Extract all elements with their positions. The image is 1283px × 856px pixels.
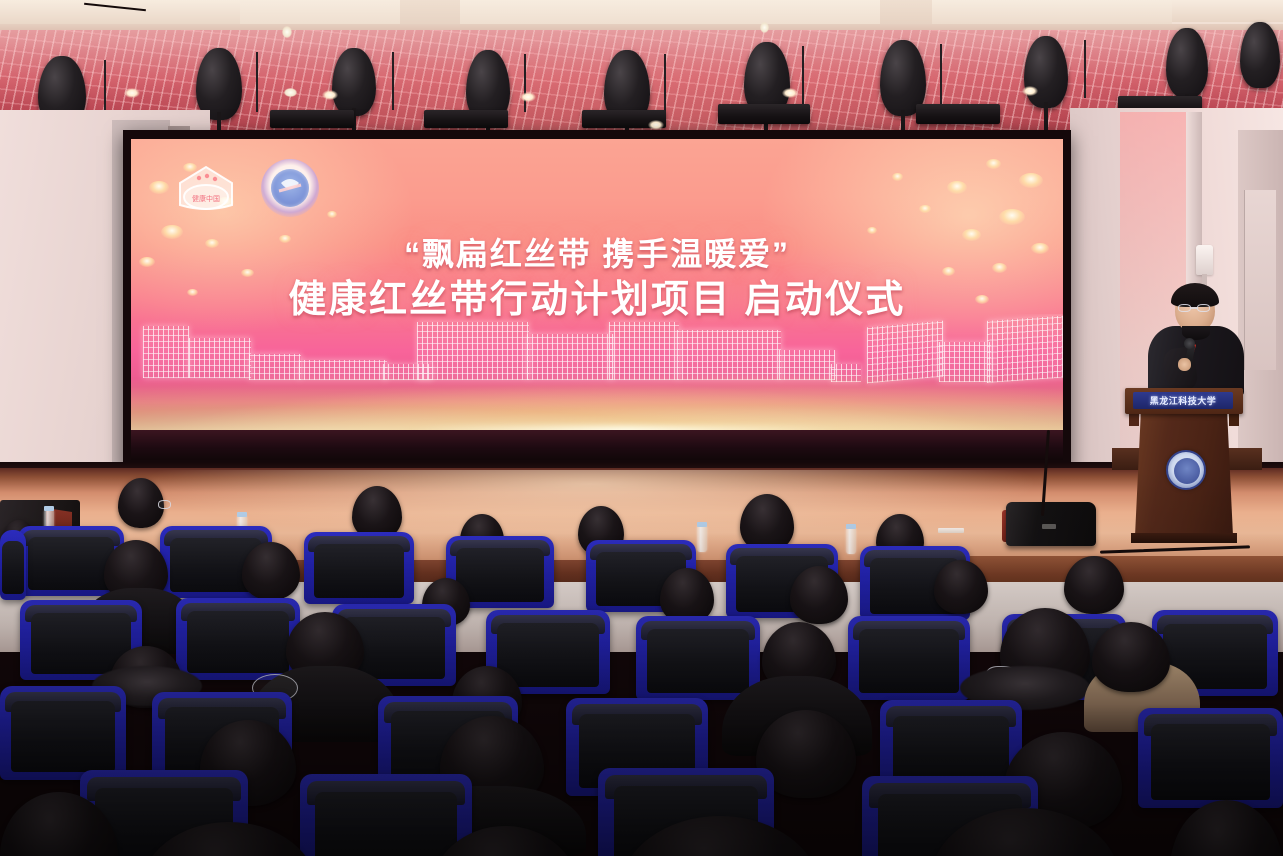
moving-head-stage-light (1024, 36, 1068, 108)
eyeglasses (158, 500, 171, 509)
recessed-downlight (1022, 86, 1038, 96)
recessed-downlight (322, 90, 338, 100)
light-rigging-stem (1044, 102, 1048, 130)
truss-speaker-box (916, 104, 1000, 124)
truss-speaker-box (424, 110, 508, 128)
auditorium-seat[interactable] (0, 686, 126, 780)
podium-banner-text: 黑龙江科技大学 (1150, 394, 1217, 407)
moving-head-stage-light (1240, 22, 1280, 88)
recessed-downlight (782, 88, 798, 98)
auditorium-seat[interactable] (176, 598, 300, 680)
eyeglasses-right-lens (1197, 304, 1210, 312)
auditorium-seat[interactable] (0, 530, 26, 600)
podium-top: 黑龙江科技大学 (1125, 388, 1243, 414)
audience-head (242, 542, 300, 600)
truss-speaker-box (270, 110, 354, 128)
eyeglasses-left-lens (1178, 304, 1191, 312)
auditorium-seat[interactable] (304, 532, 414, 604)
bokeh-light (999, 209, 1025, 225)
microphone-head (1184, 338, 1195, 349)
stage-led-screen: 健康中国 “飘扁红丝带 携手温暖爱” 健康红丝带行动计划项目 启动仪式 (123, 130, 1071, 470)
recessed-downlight (520, 92, 536, 102)
bokeh-light (327, 211, 337, 218)
bokeh-light (1019, 173, 1043, 188)
bokeh-light (149, 181, 169, 194)
presenter-hand (1178, 358, 1191, 371)
auditorium-ceremony-photo: 健康中国 “飘扁红丝带 携手温暖爱” 健康红丝带行动计划项目 启动仪式 (0, 0, 1283, 856)
auditorium-seat[interactable] (636, 616, 760, 700)
bokeh-light (919, 205, 931, 213)
auditorium-seat[interactable] (848, 616, 970, 700)
bokeh-light (892, 173, 903, 181)
smoke-detector (282, 26, 292, 38)
house-emblem-logo: 健康中国 (172, 161, 240, 213)
eyeglasses-bridge (1191, 307, 1197, 309)
truss-speaker-box (718, 104, 810, 124)
rigging-rod (940, 44, 942, 106)
seated-audience (0, 470, 1283, 856)
rigging-rod (1084, 40, 1086, 98)
wall-mounted-speaker (1196, 245, 1213, 275)
bokeh-light (986, 159, 1001, 169)
presenter (1142, 286, 1248, 396)
recessed-downlight (648, 120, 664, 130)
recessed-downlight (124, 88, 140, 98)
svg-text:健康中国: 健康中国 (192, 194, 220, 203)
bokeh-light (867, 227, 877, 234)
bokeh-light (947, 181, 967, 194)
screen-title-line-1: “飘扁红丝带 携手温暖爱” (131, 237, 1063, 273)
audience-head (1064, 556, 1124, 614)
rigging-rod (802, 46, 804, 108)
circular-emblem-logo (261, 159, 319, 217)
podium-side-left (1129, 412, 1139, 426)
audience-head (1170, 800, 1283, 856)
audience-head (934, 560, 988, 614)
screen-title-block: “飘扁红丝带 携手温暖爱” 健康红丝带行动计划项目 启动仪式 (131, 237, 1063, 321)
moving-head-stage-light (1166, 28, 1208, 98)
screen-bottom-shadow (131, 430, 1063, 460)
rigging-rod (524, 54, 526, 112)
circular-emblem-inner (271, 169, 309, 207)
podium-banner: 黑龙江科技大学 (1133, 392, 1233, 409)
podium-side-right (1229, 412, 1239, 426)
rigging-rod (256, 52, 258, 112)
smoke-detector (284, 88, 297, 97)
audience-head (790, 566, 848, 624)
right-wall-doorway (1244, 190, 1276, 370)
presenter-hair (1171, 283, 1219, 307)
smoke-detector (760, 22, 769, 33)
rigging-rod (664, 54, 666, 112)
auditorium-seat[interactable] (300, 774, 472, 856)
auditorium-seat[interactable] (1138, 708, 1283, 808)
rigging-rod (392, 52, 394, 110)
moving-head-stage-light (332, 48, 376, 116)
